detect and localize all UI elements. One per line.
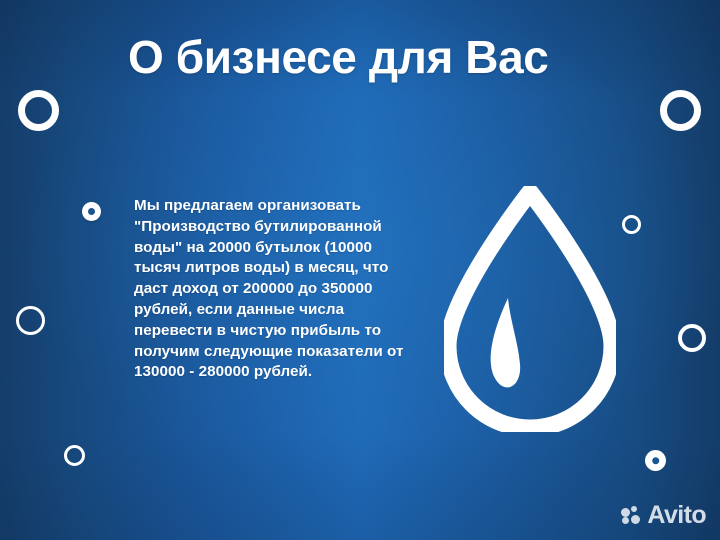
bullet-list-item: Мы предлагаем организовать "Производство… bbox=[82, 196, 412, 383]
water-drop-illustration bbox=[444, 186, 616, 432]
ring-mid-right-icon bbox=[622, 215, 641, 234]
ring-top-left-icon bbox=[18, 90, 59, 131]
avito-brand-label: Avito bbox=[647, 503, 706, 528]
ring-lower-right-icon bbox=[678, 324, 706, 352]
ring-mid-left-icon bbox=[16, 306, 45, 335]
avito-watermark: Avito bbox=[621, 503, 706, 528]
ring-top-right-icon bbox=[660, 90, 701, 131]
bullet-dot-icon bbox=[82, 202, 101, 221]
page-title: О бизнесе для Вас bbox=[128, 28, 688, 86]
water-drop-icon bbox=[448, 192, 612, 428]
avito-dots-icon bbox=[621, 506, 642, 525]
ring-bottom-left-icon bbox=[64, 445, 85, 466]
slide-canvas: О бизнесе для Вас Мы предлагаем организо… bbox=[0, 0, 720, 540]
dot-ring-bottom-right-icon bbox=[645, 450, 666, 471]
body-paragraph: Мы предлагаем организовать "Производство… bbox=[82, 196, 412, 383]
